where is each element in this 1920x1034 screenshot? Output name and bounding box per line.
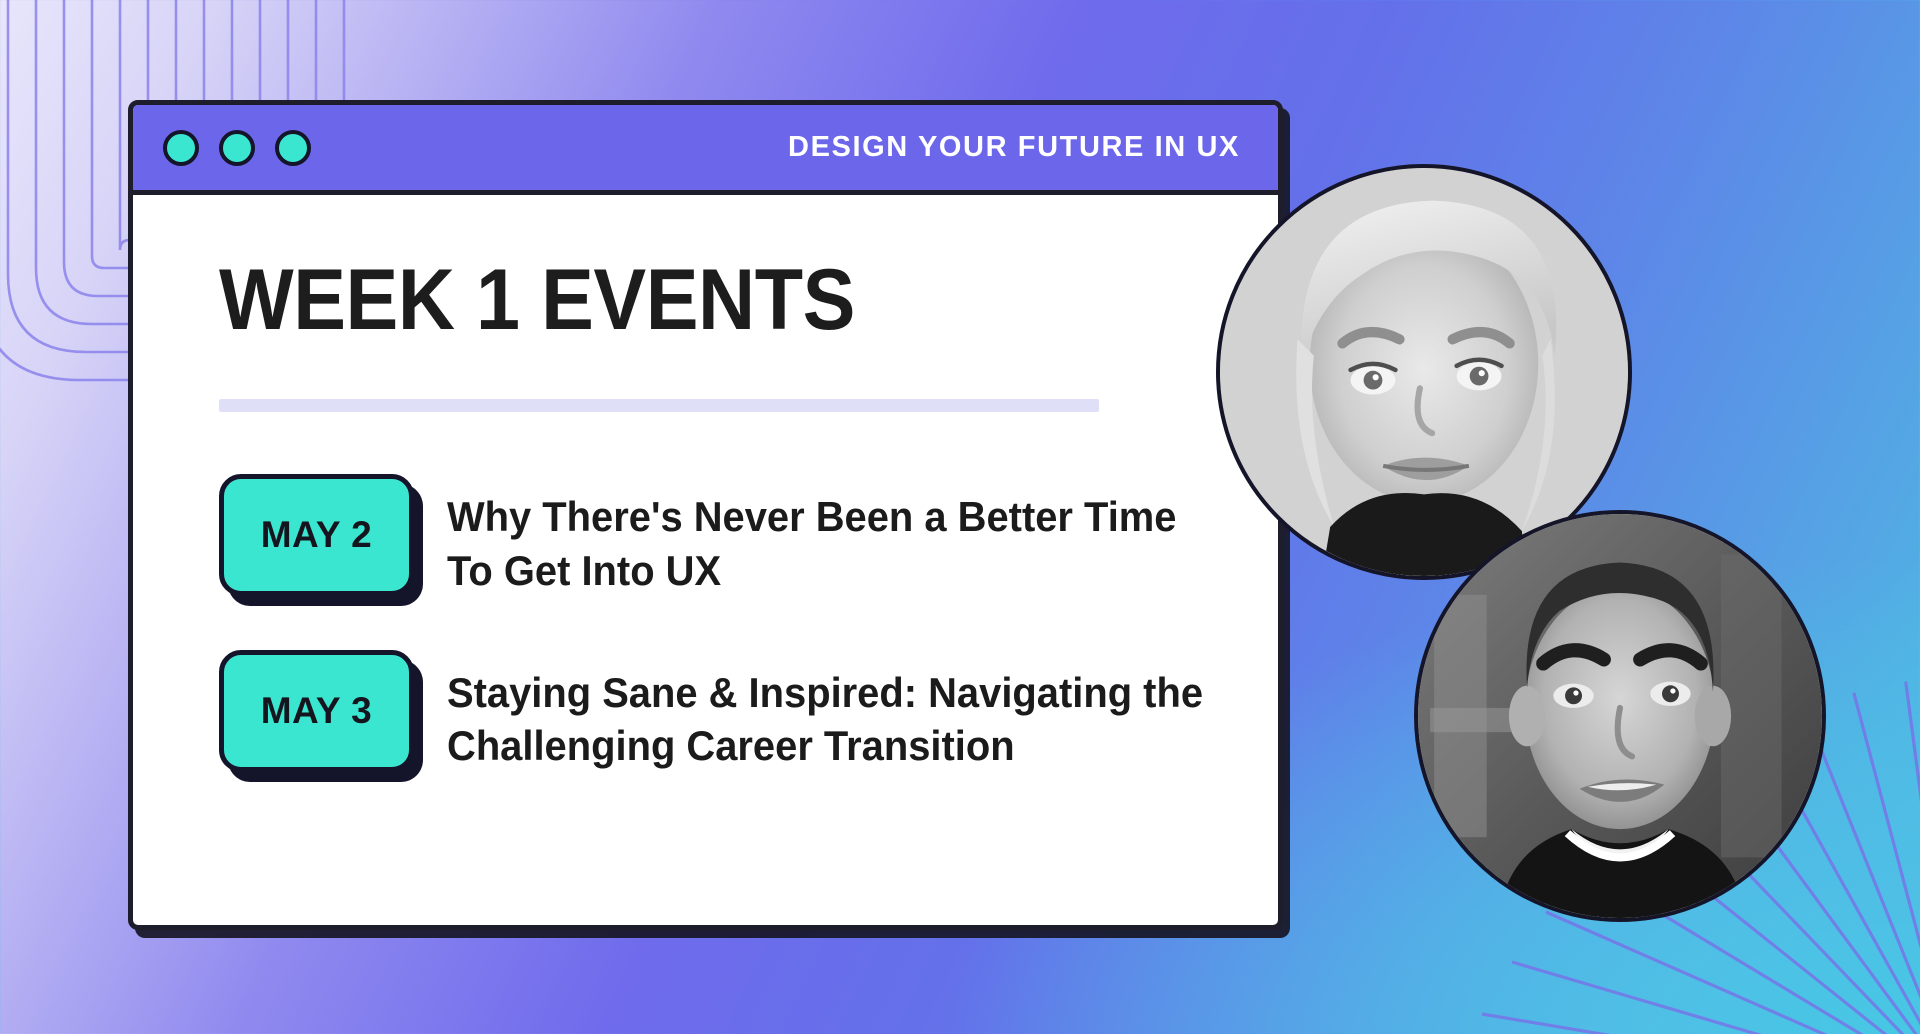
events-list: MAY 2 Why There's Never Been a Better Ti… <box>219 474 1278 773</box>
list-item[interactable]: MAY 2 Why There's Never Been a Better Ti… <box>219 474 1278 598</box>
badge-wrapper: MAY 2 <box>219 474 447 596</box>
avatar-speaker-two-photo <box>1418 514 1822 918</box>
card-body: WEEK 1 EVENTS MAY 2 Why There's Never Be… <box>133 195 1278 773</box>
list-item[interactable]: MAY 3 Staying Sane & Inspired: Navigatin… <box>219 650 1278 774</box>
avatar-speaker-one-photo <box>1220 168 1628 576</box>
window-titlebar: DESIGN YOUR FUTURE IN UX <box>133 105 1278 195</box>
date-badge: MAY 2 <box>219 474 414 596</box>
event-title: Staying Sane & Inspired: Navigating the … <box>447 650 1207 774</box>
traffic-dot-three-icon[interactable] <box>275 130 311 166</box>
avatar-speaker-two <box>1414 510 1826 922</box>
traffic-dot-one-icon[interactable] <box>163 130 199 166</box>
window-title: DESIGN YOUR FUTURE IN UX <box>788 131 1240 164</box>
badge-wrapper: MAY 3 <box>219 650 447 772</box>
title-divider <box>219 399 1099 412</box>
traffic-light-dots <box>163 130 311 166</box>
page-title: WEEK 1 EVENTS <box>219 257 1193 343</box>
traffic-dot-two-icon[interactable] <box>219 130 255 166</box>
event-title: Why There's Never Been a Better Time To … <box>447 474 1207 598</box>
event-window-card: DESIGN YOUR FUTURE IN UX WEEK 1 EVENTS M… <box>128 100 1283 930</box>
date-badge: MAY 3 <box>219 650 414 772</box>
